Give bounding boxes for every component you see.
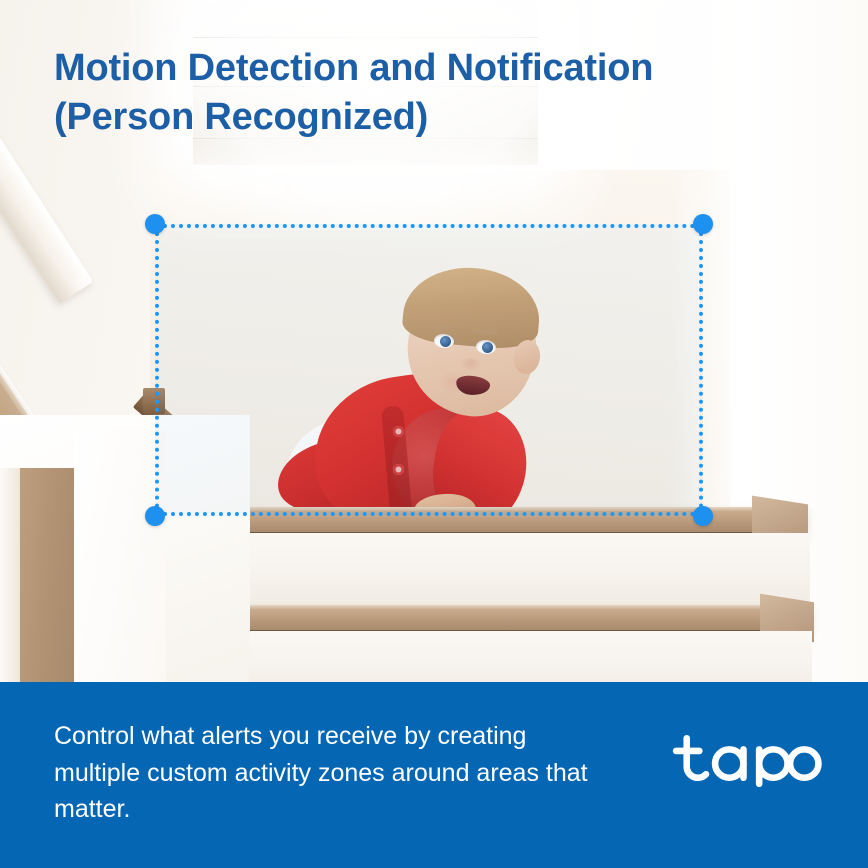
banner-caption-line-2: multiple custom activity zones around ar… <box>54 755 654 792</box>
banner-caption-line-1: Control what alerts you receive by creat… <box>54 718 654 755</box>
banner-caption-line-3: matter. <box>54 791 654 828</box>
page-title: Motion Detection and Notification (Perso… <box>54 44 754 141</box>
page-title-line-2: (Person Recognized) <box>54 93 754 142</box>
bottom-banner: Control what alerts you receive by creat… <box>0 682 868 868</box>
zone-handle-top-right[interactable] <box>693 214 713 234</box>
banner-caption: Control what alerts you receive by creat… <box>54 718 654 828</box>
zone-handle-bottom-left[interactable] <box>145 506 165 526</box>
promo-card: Motion Detection and Notification (Perso… <box>0 0 868 868</box>
activity-zone-rectangle[interactable] <box>155 224 703 516</box>
page-title-line-1: Motion Detection and Notification <box>54 44 754 93</box>
left-wall-panel <box>74 430 166 690</box>
zone-handle-bottom-right[interactable] <box>693 506 713 526</box>
left-wood-trim-highlight <box>0 468 20 690</box>
tapo-logo <box>670 728 822 788</box>
zone-handle-top-left[interactable] <box>145 214 165 234</box>
